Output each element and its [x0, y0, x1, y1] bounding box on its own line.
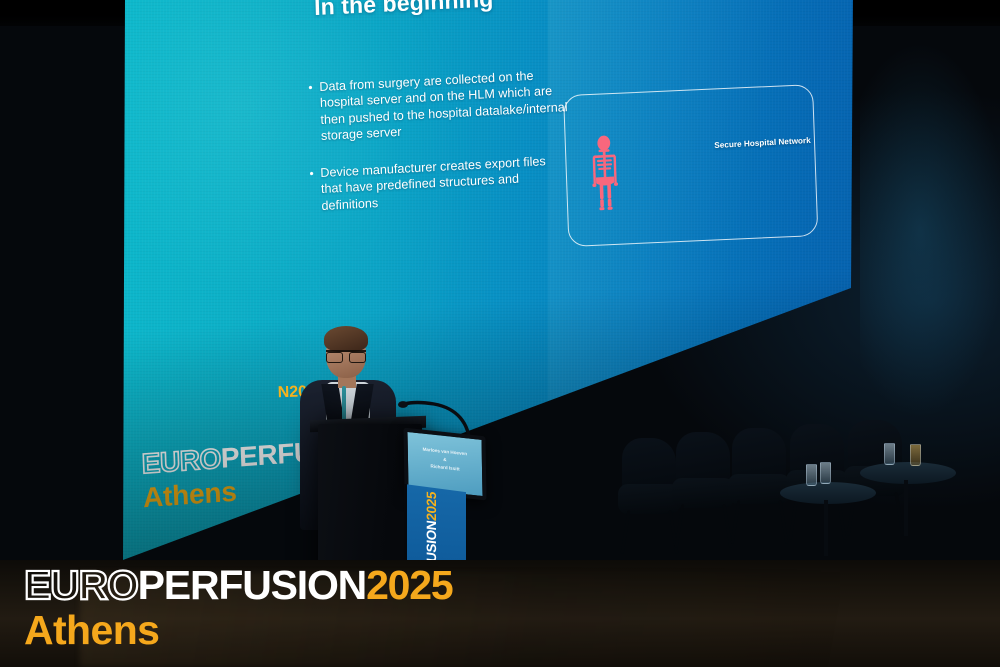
- water-glass: [884, 443, 895, 465]
- table-top: [860, 462, 956, 484]
- conference-stage-scene: In the beginning • Data from surgery are…: [0, 0, 1000, 667]
- overlay-logo-city: Athens: [24, 607, 159, 653]
- water-glass: [820, 462, 831, 484]
- overlay-logo-euro: EURO: [24, 562, 138, 609]
- table-stem: [904, 480, 908, 536]
- overlay-brand-lockup: EUROPERFUSION2025 Athens: [24, 562, 452, 654]
- water-glass: [806, 464, 817, 486]
- podium-presenter-names: Marloes van Hoeven & Richard Issitt: [408, 444, 482, 476]
- water-glass: [910, 444, 921, 466]
- overlay-logo-perfusion: PERFUSION: [138, 562, 366, 609]
- table-top: [780, 482, 876, 504]
- overlay-logo-year: 2025: [366, 562, 452, 609]
- table-stem: [824, 500, 828, 556]
- presenter-hair: [324, 326, 368, 352]
- eyeglasses-icon: [326, 350, 366, 359]
- podium-logo-year: 2025: [424, 491, 439, 522]
